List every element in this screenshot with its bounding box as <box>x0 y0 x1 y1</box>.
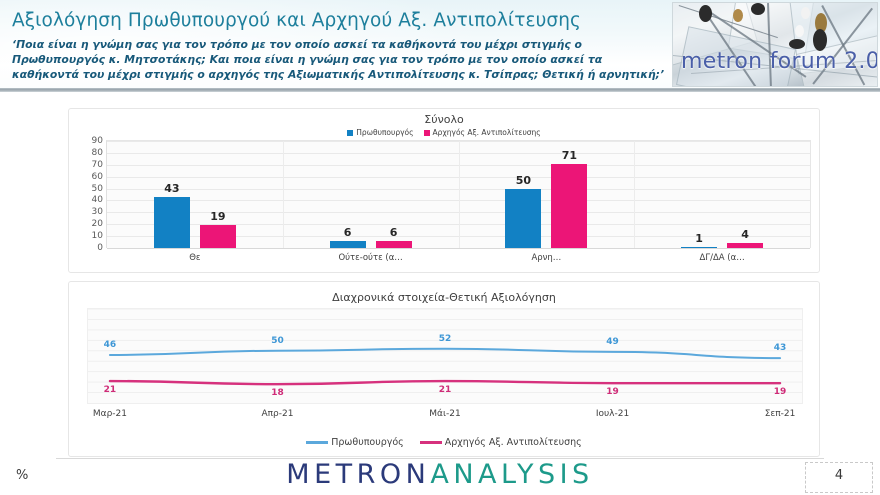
metron-analysis-wordmark: METRONANALYSIS <box>0 459 880 490</box>
bar[interactable] <box>505 189 541 248</box>
logo-fixture-1 <box>699 5 712 22</box>
line-series[interactable] <box>110 381 780 384</box>
y-axis-tick: 60 <box>92 172 103 182</box>
x-axis-tick-label: Απρ-21 <box>261 409 293 419</box>
bar[interactable] <box>200 225 236 248</box>
bar-value-label: 1 <box>681 232 717 245</box>
line-legend-item-opposition: Αρχηγός Αξ. Αντιπολίτευσης <box>420 437 582 448</box>
page-subtitle: ‘Ποια είναι η γνώμη σας για τον τρόπο με… <box>12 37 670 82</box>
bar-value-label: 19 <box>200 210 236 223</box>
bar-value-label: 6 <box>330 226 366 239</box>
line-chart-panel: Διαχρονικά στοιχεία-Θετική Αξιολόγηση 46… <box>68 281 820 457</box>
line-value-label: 18 <box>271 388 284 398</box>
bar-chart-legend: Πρωθυπουργός Αρχηγός Αξ. Αντιπολίτευσης <box>69 128 819 137</box>
slide: Αξιολόγηση Πρωθυπουργού και Αρχηγού Αξ. … <box>0 0 880 495</box>
legend-swatch-opposition <box>424 130 430 136</box>
line-value-label: 46 <box>104 340 117 350</box>
bar-group: 14ΔΓ/ΔΑ (α… <box>634 141 810 248</box>
line-value-label: 19 <box>606 387 619 397</box>
x-axis-tick-label: Σεπ-21 <box>765 409 796 419</box>
line-series[interactable] <box>110 349 780 358</box>
line-legend-item-pm: Πρωθυπουργός <box>306 437 404 448</box>
y-axis-tick: 10 <box>92 231 103 241</box>
legend-item-pm: Πρωθυπουργός <box>347 128 413 137</box>
bar-chart-panel: Σύνολο Πρωθυπουργός Αρχηγός Αξ. Αντιπολί… <box>68 108 820 273</box>
bar[interactable] <box>376 241 412 248</box>
line-value-label: 49 <box>606 337 619 347</box>
bar-chart-title: Σύνολο <box>69 113 819 126</box>
y-axis-tick: 20 <box>92 219 103 229</box>
legend-label-opposition: Αρχηγός Αξ. Αντιπολίτευσης <box>433 128 541 137</box>
header-divider <box>0 88 880 92</box>
line-legend-swatch-opposition <box>420 441 442 444</box>
bar[interactable] <box>154 197 190 248</box>
line-value-label: 19 <box>774 387 787 397</box>
bar[interactable] <box>330 241 366 248</box>
legend-item-opposition: Αρχηγός Αξ. Αντιπολίτευσης <box>424 128 541 137</box>
y-axis-tick: 90 <box>92 136 103 146</box>
logo-fixture-3 <box>751 3 765 15</box>
subtitle-line-2: Πρωθυπουργός κ. Μητσοτάκης; Και ποια είν… <box>12 52 670 67</box>
x-axis-tick-label: Μάι-21 <box>429 409 460 419</box>
logo-fixture-4 <box>801 7 810 19</box>
x-axis-category-label: Ούτε-ούτε (α… <box>338 253 402 263</box>
wordmark-analysis: ANALYSIS <box>430 459 593 490</box>
x-axis-category-label: Θε <box>189 253 200 263</box>
logo-fixture-2 <box>733 9 743 22</box>
line-legend-swatch-pm <box>306 441 328 444</box>
bar-group: 5071Αρνη… <box>459 141 635 248</box>
bar-value-label: 71 <box>551 149 587 162</box>
subtitle-line-3: καθήκοντά του μέχρι στιγμής ο αρχηγός τη… <box>12 67 670 82</box>
line-chart-plot-area: 46505249432118211919Μαρ-21Απρ-21Μάι-21Ιο… <box>87 308 803 404</box>
bar-group: 4319Θε <box>107 141 283 248</box>
bar-chart-plot-area: 90807060504030201004319Θε66Ούτε-ούτε (α…… <box>106 140 811 248</box>
page-title: Αξιολόγηση Πρωθυπουργού και Αρχηγού Αξ. … <box>12 10 672 31</box>
line-chart-title: Διαχρονικά στοιχεία-Θετική Αξιολόγηση <box>69 291 819 304</box>
x-axis-tick-label: Ιουλ-21 <box>596 409 629 419</box>
line-value-label: 50 <box>271 336 284 346</box>
y-axis-tick: 50 <box>92 184 103 194</box>
page-number: 4 <box>805 468 873 483</box>
x-axis-category-label: Αρνη… <box>531 253 561 263</box>
bar-value-label: 6 <box>376 226 412 239</box>
bar[interactable] <box>681 247 717 249</box>
metron-forum-logo: metron forum 2.0 <box>672 2 878 87</box>
x-axis-category-label: ΔΓ/ΔΑ (α… <box>700 253 745 263</box>
bar[interactable] <box>551 164 587 248</box>
gridline <box>107 248 810 249</box>
bar-value-label: 43 <box>154 182 190 195</box>
line-legend-label-pm: Πρωθυπουργός <box>331 437 404 448</box>
y-axis-tick: 40 <box>92 195 103 205</box>
line-value-label: 21 <box>104 385 117 395</box>
logo-fixture-5 <box>795 25 804 37</box>
line-chart-legend: Πρωθυπουργός Αρχηγός Αξ. Αντιπολίτευσης <box>69 437 819 448</box>
y-axis-tick: 30 <box>92 207 103 217</box>
y-axis-tick: 80 <box>92 148 103 158</box>
bar[interactable] <box>727 243 763 248</box>
logo-fixture-7 <box>813 29 827 51</box>
logo-text: metron forum 2.0 <box>681 49 878 74</box>
line-value-label: 43 <box>774 343 787 353</box>
y-axis-tick: 70 <box>92 160 103 170</box>
line-value-label: 52 <box>439 334 452 344</box>
wordmark-metron: METRON <box>286 459 430 490</box>
bar-value-label: 50 <box>505 174 541 187</box>
legend-label-pm: Πρωθυπουργός <box>356 128 413 137</box>
subtitle-line-1: ‘Ποια είναι η γνώμη σας για τον τρόπο με… <box>12 37 670 52</box>
bar-group: 66Ούτε-ούτε (α… <box>283 141 459 248</box>
line-legend-label-opposition: Αρχηγός Αξ. Αντιπολίτευσης <box>445 437 582 448</box>
bar-value-label: 4 <box>727 228 763 241</box>
x-axis-tick-label: Μαρ-21 <box>93 409 127 419</box>
y-axis-tick: 0 <box>97 243 103 253</box>
legend-swatch-pm <box>347 130 353 136</box>
line-value-label: 21 <box>439 385 452 395</box>
slide-header: Αξιολόγηση Πρωθυπουργού και Αρχηγού Αξ. … <box>0 0 880 90</box>
logo-fixture-8 <box>789 39 805 49</box>
